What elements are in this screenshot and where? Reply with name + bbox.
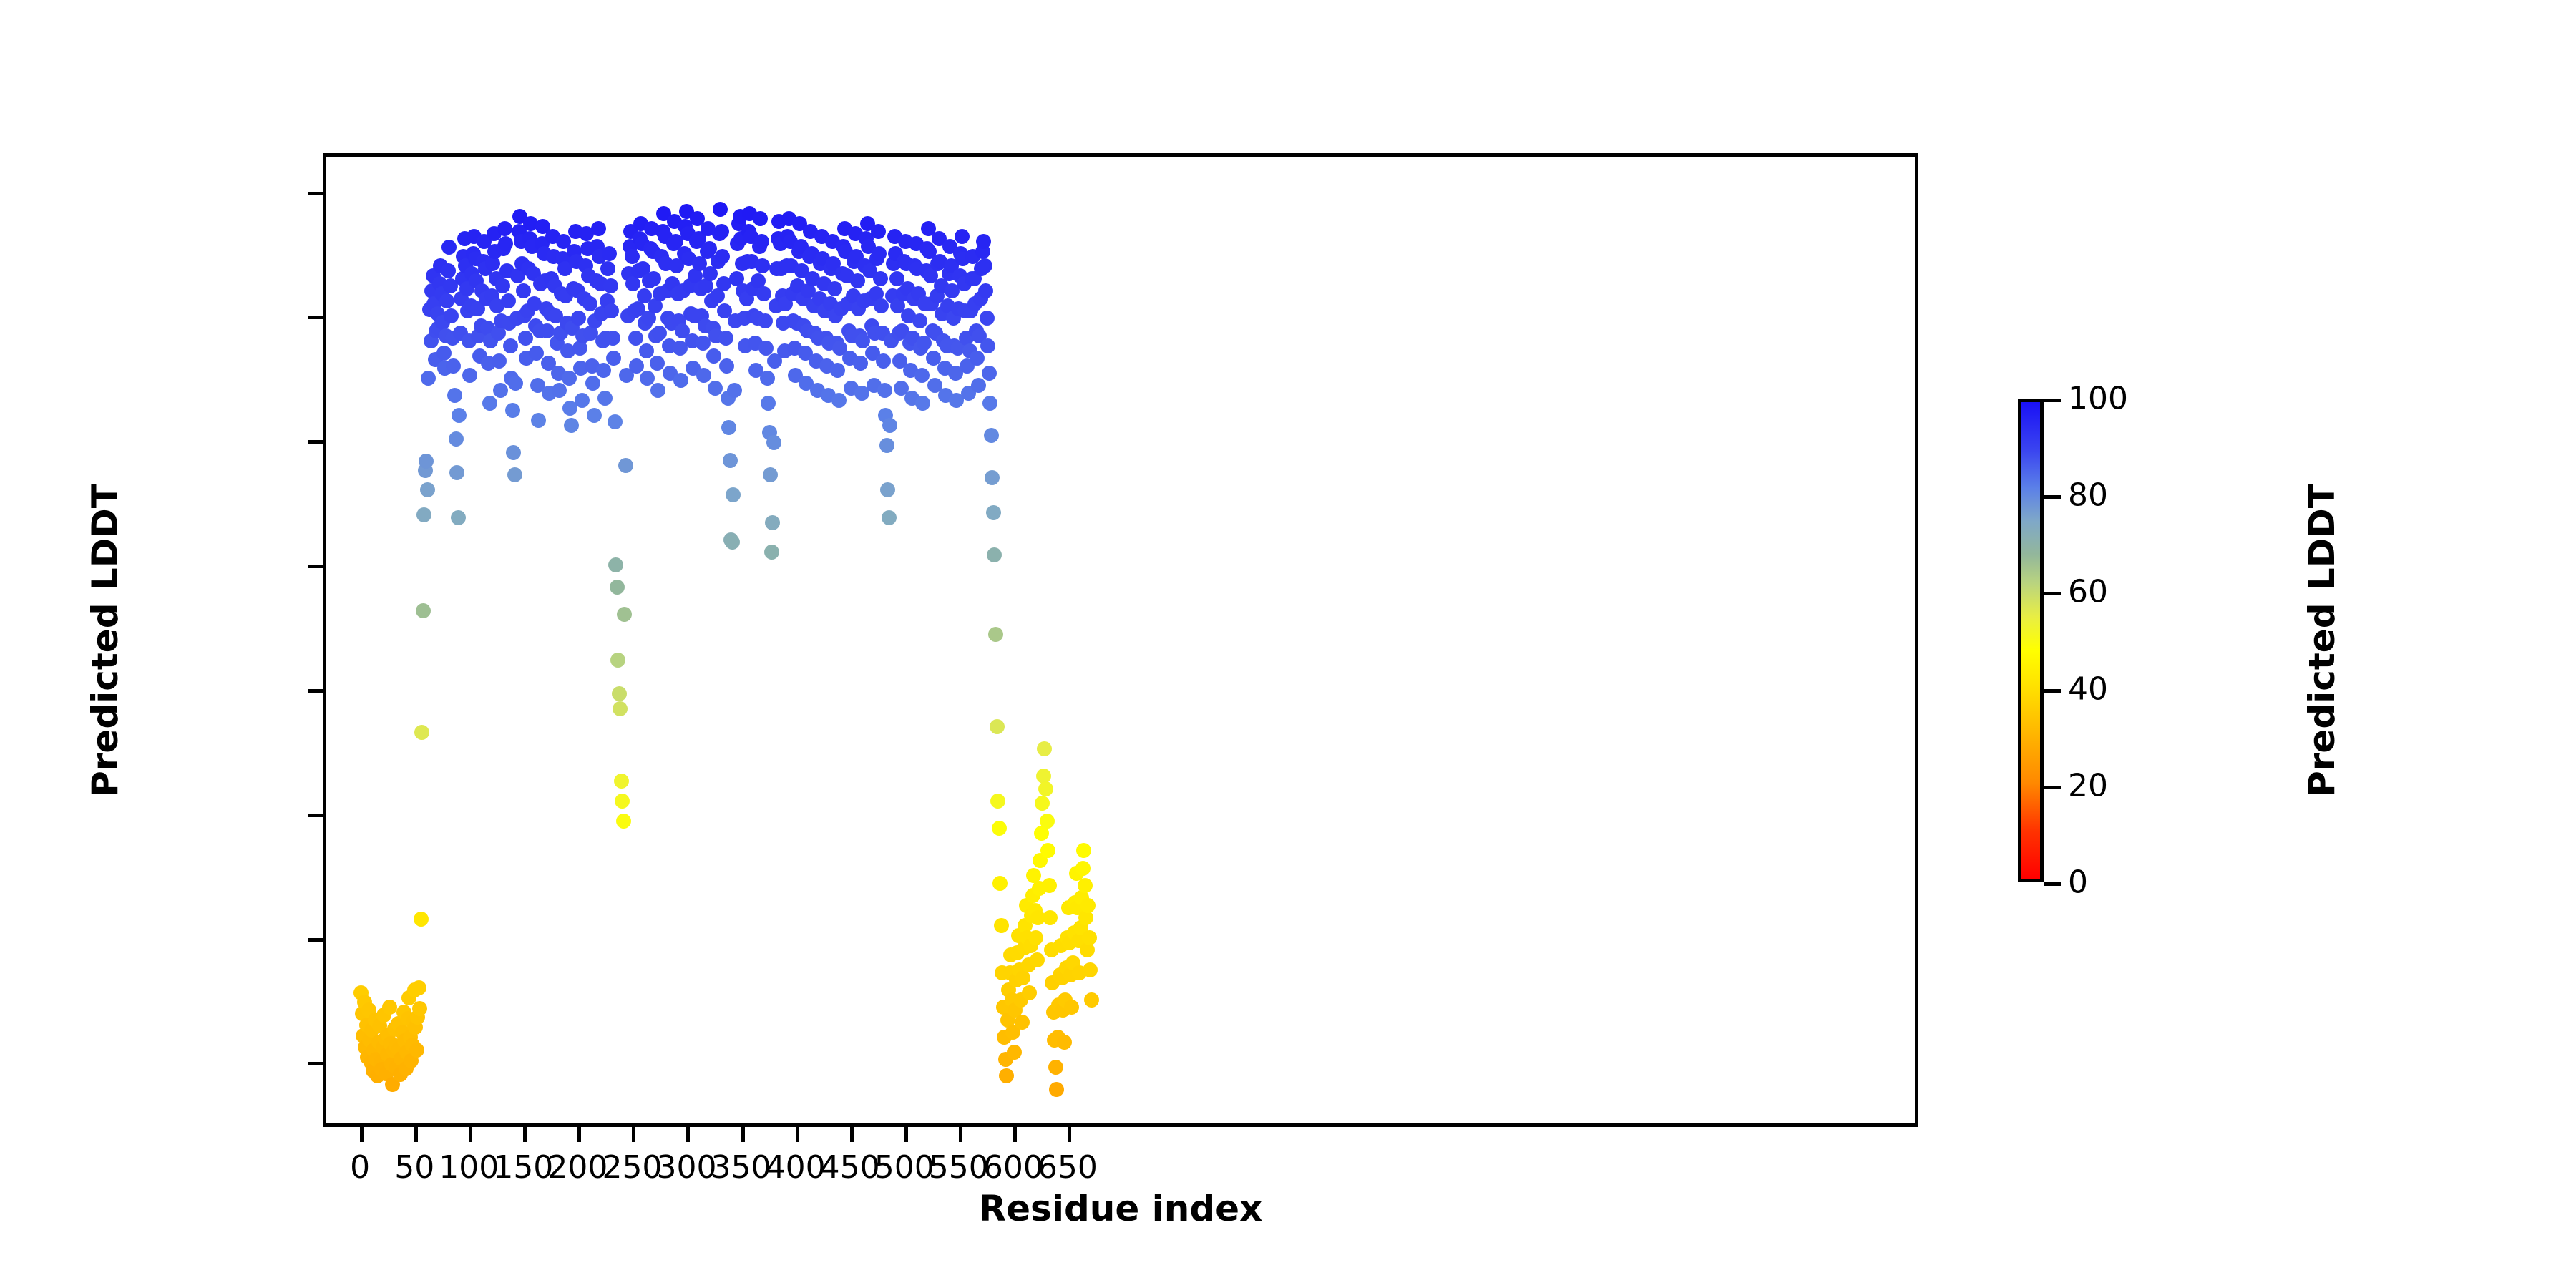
scatter-point [1075,861,1091,876]
scatter-point [1022,985,1037,1000]
scatter-point [723,453,738,468]
scatter-point [1037,741,1052,756]
y-axis-tick [308,192,326,195]
colorbar-tick-label: 40 [2068,670,2108,707]
scatter-point [758,313,773,328]
scatter-point [382,1000,397,1015]
scatter-point [971,378,986,393]
x-axis-tick [1013,1123,1017,1142]
x-axis-tick [796,1123,799,1142]
scatter-point [564,418,579,433]
scatter-point [444,308,459,323]
scatter-point [497,221,512,236]
x-axis-tick-label: 200 [547,1149,608,1186]
x-axis-tick [469,1123,472,1142]
scatter-point [696,368,711,383]
scatter-point [587,408,602,423]
x-axis-tick-label: 250 [602,1149,662,1186]
scatter-point [980,311,995,326]
scatter-point [608,557,623,572]
scatter-point [765,515,780,530]
scatter-point [992,821,1007,836]
x-axis-tick [686,1123,690,1142]
x-axis-tick-label: 0 [350,1149,370,1186]
scatter-point [652,326,667,341]
scatter-point [412,1001,427,1016]
colorbar-tick-label: 100 [2068,381,2128,417]
scatter-point [872,246,887,261]
scatter-point [596,363,611,378]
scatter-point [646,271,661,286]
scatter-point [591,221,606,236]
scatter-point [1078,878,1093,893]
scatter-point [986,505,1001,520]
x-axis-tick [959,1123,962,1142]
scatter-point [1084,992,1099,1008]
scatter-point [727,383,742,398]
plot-axes: 30405060708090100 0501001502002503003504… [323,153,1918,1127]
scatter-point [608,414,623,429]
scatter-point [446,358,461,374]
scatter-point [409,1043,424,1058]
scatter-point [718,331,733,346]
scatter-point [831,393,847,408]
scatter-point [416,507,431,522]
scatter-point [421,371,436,386]
colorbar-tick [2044,495,2061,499]
scatter-point [708,381,723,396]
scatter-point [830,363,845,378]
colorbar-tick-label: 60 [2068,574,2108,610]
scatter-point [978,283,993,298]
x-axis-tick [414,1123,418,1142]
scatter-point [721,420,736,435]
scatter-point [501,293,516,308]
scatter-point [1028,930,1043,945]
scatter-point [613,701,628,716]
scatter-point [414,912,429,927]
scatter-point [575,393,590,408]
x-axis-tick [1068,1123,1071,1142]
x-axis-tick [850,1123,854,1142]
scatter-point [970,351,985,366]
x-axis-label: Residue index [323,1188,1918,1229]
scatter-point [871,224,886,239]
x-axis-tick [904,1123,908,1142]
scatter-point [614,774,629,789]
y-axis-tick [308,316,326,319]
figure-canvas: Predicted LDDT 30405060708090100 0501001… [0,0,2576,1288]
colorbar-tick-label: 20 [2068,767,2108,804]
scatter-point [447,388,462,403]
scatter-point [753,211,768,226]
scatter-point [1076,843,1091,858]
scatter-point [880,482,895,497]
scatter-point [416,603,431,618]
scatter-point [879,438,894,453]
scatter-point [760,371,775,386]
scatter-point [640,371,655,386]
colorbar-frame [2018,399,2044,882]
scatter-point [764,545,779,560]
colorbar-tick [2044,786,2061,789]
y-axis-label-text: Predicted LDDT [84,484,126,797]
colorbar-tick [2044,882,2061,886]
colorbar-tick-label: 0 [2068,864,2088,901]
x-axis-tick-label: 400 [766,1149,826,1186]
scatter-point [604,303,619,318]
scatter-point [585,376,600,391]
scatter-point [999,1068,1014,1083]
scatter-point [571,311,586,326]
scatter-point [726,487,741,502]
scatter-point [506,445,521,460]
scatter-point [531,413,546,428]
colorbar-tick [2044,592,2061,595]
y-axis-tick [308,440,326,444]
scatter-point [1035,796,1050,811]
scatter-point [606,351,621,366]
colorbar-tick-label: 80 [2068,477,2108,514]
x-axis-tick [577,1123,581,1142]
y-axis-tick [308,814,326,817]
scatter-point [610,580,625,595]
scatter-point [976,234,991,249]
scatter-point [420,482,435,497]
scatter-point [984,428,999,443]
scatter-point [616,814,631,829]
x-axis-tick-label: 150 [493,1149,553,1186]
scatter-point [493,383,508,398]
scatter-point [714,224,729,239]
colorbar-label-text: Predicted LDDT [2301,484,2343,797]
scatter-point [982,396,997,411]
scatter-point [982,366,997,381]
scatter-point [873,271,888,286]
scatter-point [436,346,452,361]
scatter-point [508,376,523,391]
scatter-point [618,458,633,473]
scatter-point [617,607,632,622]
scatter-point [1040,843,1055,858]
x-axis-tick-label: 300 [656,1149,716,1186]
scatter-point [603,278,618,293]
scatter-point [1038,781,1053,796]
scatter-point [977,258,992,273]
scatter-point [441,263,456,278]
scatter-point [498,236,513,251]
scatter-point [1064,1000,1079,1015]
scatter-point [763,467,778,482]
scatter-point [725,535,740,550]
x-axis-tick-label: 50 [394,1149,434,1186]
scatter-point [766,435,781,450]
scatter-point [625,249,640,264]
scatter-point [441,240,457,255]
x-axis-tick-label: 100 [439,1149,499,1186]
colorbar: 020406080100 [2018,399,2044,882]
colorbar-gradient [2021,402,2040,879]
scatter-point [756,286,771,301]
scatter-point [505,403,520,418]
scatter-point [414,725,429,740]
x-axis-tick-label: 450 [820,1149,880,1186]
scatter-point [673,373,688,388]
scatter-point [1080,898,1096,913]
y-axis-tick [308,689,326,693]
scatter-point [912,313,927,328]
scatter-point [1049,1082,1064,1097]
scatter-point [992,876,1008,891]
scatter-point [914,368,930,383]
colorbar-tick [2044,399,2061,402]
colorbar-tick [2044,689,2061,693]
y-axis-tick [308,565,326,568]
scatter-point [650,356,665,371]
scatter-plot-area [326,157,1915,1123]
scatter-point [987,547,1002,562]
scatter-point [507,467,522,482]
scatter-point [518,331,533,346]
scatter-point [985,470,1000,485]
scatter-point [597,391,613,406]
scatter-point [761,396,776,411]
y-axis-tick [308,1062,326,1065]
scatter-point [449,465,464,480]
scatter-point [1048,1060,1063,1075]
scatter-point [827,281,842,296]
scatter-point [492,353,507,369]
scatter-point [955,229,970,244]
scatter-point [853,356,868,371]
scatter-point [917,336,932,351]
scatter-point [615,794,630,809]
scatter-point [1083,962,1098,977]
scatter-point [715,249,730,264]
scatter-point [628,331,643,346]
scatter-point [462,368,477,383]
scatter-point [629,358,644,374]
scatter-point [754,234,769,249]
scatter-point [882,510,897,525]
y-axis-tick [308,938,326,942]
scatter-point [1082,930,1097,945]
scatter-point [600,261,615,276]
scatter-point [850,273,865,288]
y-axis-label: Predicted LDDT [80,153,130,1127]
scatter-point [990,719,1005,734]
scatter-point [516,283,531,298]
scatter-point [452,408,467,423]
scatter-point [449,431,464,447]
scatter-point [1057,1035,1072,1050]
x-axis-tick [632,1123,635,1142]
scatter-point [877,383,892,398]
x-axis-tick-label: 350 [711,1149,771,1186]
scatter-point [882,418,897,433]
scatter-point [639,343,654,358]
scatter-point [602,246,617,261]
scatter-point [1015,1015,1030,1030]
scatter-point [980,338,995,353]
scatter-point [1042,878,1057,893]
scatter-point [411,980,426,995]
scatter-point [610,653,625,668]
scatter-point [713,202,728,217]
x-axis-tick [741,1123,745,1142]
scatter-point [990,794,1005,809]
scatter-point [612,686,627,701]
scatter-point [650,383,665,398]
x-axis-tick-label: 550 [929,1149,989,1186]
scatter-point [988,627,1003,642]
scatter-point [719,358,734,374]
scatter-point [495,278,510,293]
scatter-point [1030,952,1045,967]
scatter-point [1043,910,1058,925]
scatter-point [706,348,721,364]
x-axis-tick-label: 500 [874,1149,935,1186]
scatter-point [605,331,620,346]
scatter-point [552,383,567,398]
scatter-point [482,396,497,411]
scatter-point [439,293,454,308]
x-axis-tick [360,1123,364,1142]
x-axis-tick [523,1123,527,1142]
scatter-point [503,338,518,353]
x-axis-tick-label: 650 [1038,1149,1098,1186]
scatter-point [755,258,770,273]
scatter-point [1040,814,1055,829]
scatter-point [994,918,1009,933]
scatter-point [876,353,891,369]
scatter-point [915,396,930,411]
x-axis-tick-label: 600 [983,1149,1043,1186]
scatter-point [451,510,466,525]
colorbar-label: Predicted LDDT [2297,399,2347,882]
scatter-point [1007,1045,1022,1060]
